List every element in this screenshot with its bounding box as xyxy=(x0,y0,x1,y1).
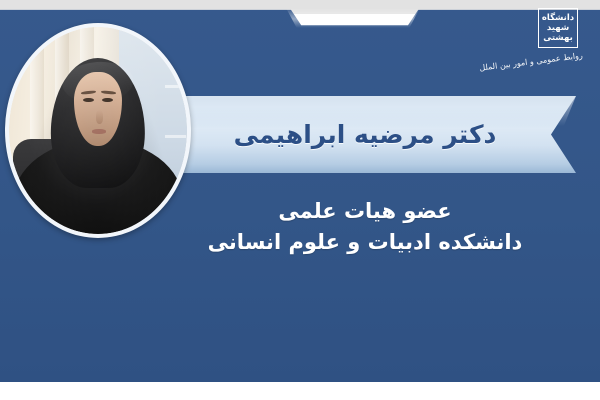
portrait-photo xyxy=(9,27,187,234)
portrait-vignette xyxy=(9,27,187,234)
person-name: دکتر مرضیه ابراهیمی xyxy=(200,96,530,173)
university-logo-mark-text: دانشگاه شهید بهشتی xyxy=(542,12,575,45)
logo-mark-line-2: شهید xyxy=(547,23,569,33)
role-line-2: دانشکده ادبیات و علوم انسانی xyxy=(200,226,530,258)
poster-canvas: دکتر مرضیه ابراهیمی عضو ه xyxy=(0,0,600,400)
role-line-1: عضو هیات علمی xyxy=(200,196,530,226)
university-logo: دانشگاه شهید بهشتی روابط عمومی و امور بی… xyxy=(476,6,584,82)
role-block: عضو هیات علمی دانشکده ادبیات و علوم انسا… xyxy=(200,196,530,258)
logo-mark-line-3: بهشتی xyxy=(543,33,573,43)
bottom-white-band xyxy=(0,382,600,400)
avatar xyxy=(5,23,191,238)
logo-caption: روابط عمومی و امور بین الملل xyxy=(479,50,584,74)
university-logo-mark-icon: دانشگاه شهید بهشتی xyxy=(538,8,578,48)
logo-mark-line-1: دانشگاه xyxy=(542,13,574,23)
